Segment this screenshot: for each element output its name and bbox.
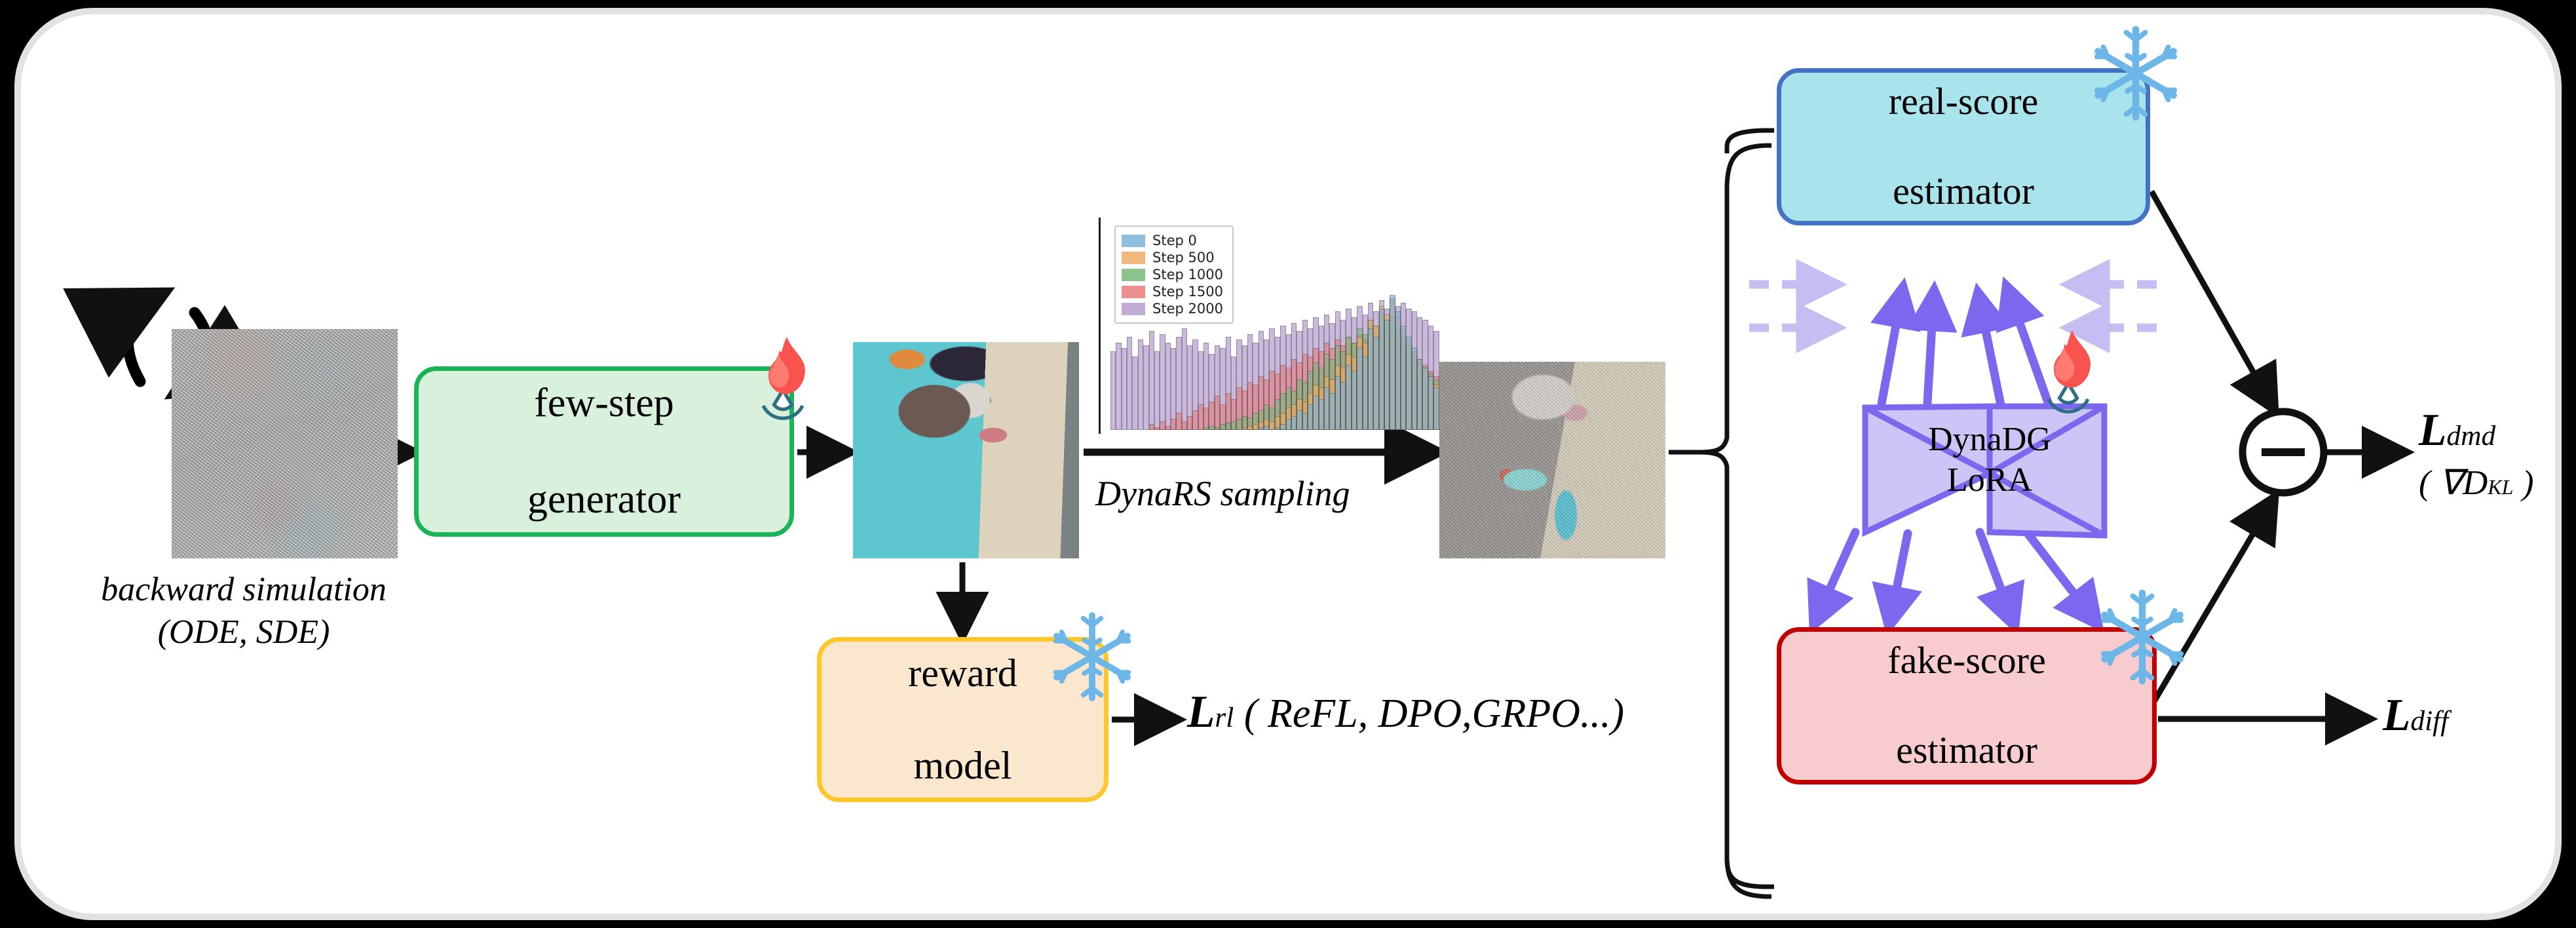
loss-rl-symbol: L <box>1187 687 1215 737</box>
loss-dmd-kl: KL <box>2488 475 2513 499</box>
legend-swatch <box>1122 303 1145 315</box>
lora-to-fake-arrows <box>1815 531 2096 624</box>
chart-bar <box>1280 220 1285 430</box>
lora-label-line1: DynaDG <box>1928 419 2051 460</box>
reward-label-line1: reward <box>908 650 1017 697</box>
chart-bar <box>1319 220 1324 430</box>
loss-diff-label: Ldiff <box>2383 689 2448 742</box>
legend-label: Step 500 <box>1152 250 1215 265</box>
brace-splitter <box>1699 145 1771 897</box>
chart-bar <box>1379 220 1384 430</box>
chart-bar <box>1401 220 1406 430</box>
loss-dmd-label: Ldmd ( ∇DKL ) <box>2419 401 2562 506</box>
loss-diff-symbol: L <box>2383 690 2410 741</box>
chart-bar <box>1253 220 1258 430</box>
chart-bar <box>1395 220 1401 430</box>
dog-photo <box>853 342 1079 558</box>
chart-bar <box>1242 220 1247 430</box>
reward-label-line2: model <box>908 743 1017 789</box>
chart-bar <box>1324 220 1329 430</box>
snowflake-icon <box>2090 585 2195 689</box>
generator-label-line1: few-step <box>527 379 681 427</box>
chart-bar <box>1313 220 1318 430</box>
dashed-flow-right <box>2072 284 2157 328</box>
chart-bar <box>1352 220 1357 430</box>
fire-drop-icon <box>2019 322 2117 421</box>
chart-bar <box>1275 220 1280 430</box>
chart-bar <box>1406 220 1411 430</box>
loss-dmd-open: ( <box>2419 463 2439 502</box>
fire-drop-icon <box>734 329 832 427</box>
chart-bar <box>1368 220 1373 430</box>
chart-bar <box>1236 220 1241 430</box>
chart-bar <box>1428 220 1433 430</box>
subtract-operator <box>2243 412 2324 493</box>
dynars-histogram-chart: Step 0Step 500Step 1000Step 1500Step 200… <box>1099 211 1439 434</box>
chart-legend: Step 0Step 500Step 1000Step 1500Step 200… <box>1114 225 1234 324</box>
noisy-output-image <box>1439 362 1665 558</box>
legend-swatch <box>1122 269 1145 281</box>
chart-legend-item: Step 0 <box>1122 233 1223 248</box>
legend-label: Step 1000 <box>1152 267 1223 282</box>
chart-bar <box>1357 220 1362 430</box>
backward-sim-line2: (ODE, SDE) <box>60 611 427 653</box>
chart-bar <box>1286 220 1291 430</box>
lora-label-line2: LoRA <box>1947 460 2032 501</box>
chart-legend-item: Step 500 <box>1122 250 1223 265</box>
loss-rl-detail: ( ReFL, DPO,GRPO...) <box>1244 691 1624 736</box>
chart-bar <box>1384 220 1390 430</box>
loss-dmd-close: ) <box>2513 463 2533 502</box>
dashed-flow-left <box>1749 284 1834 328</box>
chart-bar <box>1297 220 1302 430</box>
chart-y-axis <box>1099 218 1101 434</box>
chart-bar <box>1422 220 1428 430</box>
diagram-panel: Step 0Step 500Step 1000Step 1500Step 200… <box>14 8 2562 920</box>
loss-rl-subscript: rl <box>1215 702 1234 733</box>
diagram-canvas: Step 0Step 500Step 1000Step 1500Step 200… <box>0 0 2576 928</box>
backward-sim-line1: backward simulation <box>60 568 427 611</box>
loss-dmd-symbol: L <box>2419 405 2446 455</box>
loss-diff-subscript: diff <box>2410 705 2448 737</box>
chart-bar <box>1264 220 1269 430</box>
legend-swatch <box>1122 286 1145 298</box>
chart-bar <box>1269 220 1274 430</box>
legend-swatch <box>1122 235 1145 247</box>
chart-bar <box>1363 220 1368 430</box>
connector-layer <box>21 14 2562 920</box>
chart-bar <box>1373 220 1378 430</box>
generator-label-line2: generator <box>527 476 681 524</box>
noise-image <box>172 329 398 558</box>
legend-label: Step 0 <box>1152 233 1197 248</box>
chart-bar <box>1433 220 1439 430</box>
chart-legend-item: Step 1500 <box>1122 284 1223 300</box>
chart-bar <box>1302 220 1308 430</box>
loss-rl-label: Lrl ( ReFL, DPO,GRPO...) <box>1187 686 1624 739</box>
chart-bar <box>1390 220 1395 430</box>
snowflake-icon <box>1043 608 1141 706</box>
snowflake-icon <box>2083 21 2188 126</box>
fake-score-label-line2: estimator <box>1887 728 2046 773</box>
real-score-label-line2: estimator <box>1889 169 2039 214</box>
chart-bar <box>1308 220 1313 430</box>
legend-label: Step 2000 <box>1152 301 1223 317</box>
chart-legend-item: Step 2000 <box>1122 301 1223 317</box>
chart-bar <box>1346 220 1351 430</box>
chart-bar <box>1412 220 1417 430</box>
chart-bar <box>1291 220 1297 430</box>
legend-label: Step 1500 <box>1152 284 1223 300</box>
loss-dmd-grad: ∇D <box>2439 463 2488 502</box>
fake-score-label-line1: fake-score <box>1887 638 2046 683</box>
dynars-sampling-label: DynaRS sampling <box>1095 473 1350 514</box>
real-score-label-line1: real-score <box>1889 79 2039 124</box>
legend-swatch <box>1122 252 1145 264</box>
chart-bar <box>1340 220 1346 430</box>
chart-bar <box>1329 220 1335 430</box>
chart-bar <box>1247 220 1253 430</box>
chart-bar <box>1417 220 1422 430</box>
backward-simulation-label: backward simulation (ODE, SDE) <box>60 568 427 653</box>
chart-bar <box>1335 220 1340 430</box>
chart-bar <box>1259 220 1264 430</box>
loss-dmd-subscript: dmd <box>2446 420 2495 452</box>
chart-legend-item: Step 1000 <box>1122 267 1223 282</box>
